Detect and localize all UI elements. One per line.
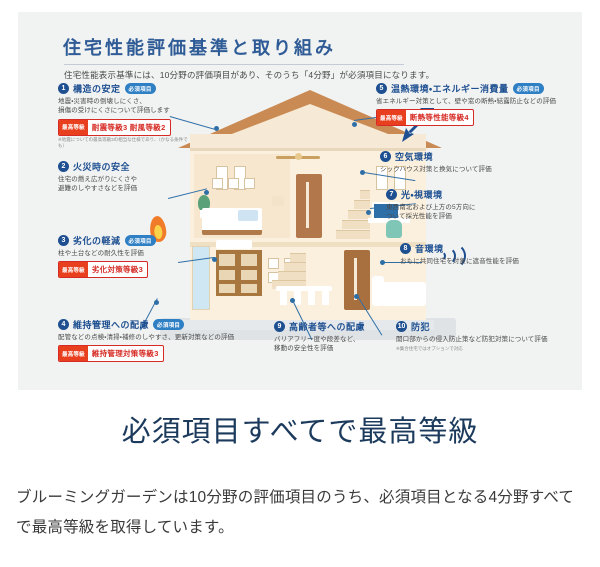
- callout-description: 住宅の燃え広がりにくさや 避難のしやすさなどを評価: [58, 175, 186, 194]
- stool-icon: [322, 291, 329, 305]
- callout-title: 劣化の軽減: [73, 234, 121, 247]
- grade-value: 劣化対策等級3: [88, 262, 147, 277]
- required-badge: 必須項目: [125, 83, 156, 94]
- living-window-icon: [192, 246, 210, 310]
- stool-icon: [294, 291, 301, 305]
- callout-item-1[interactable]: 1 構造の安定 必須項目 地震・災害時の倒壊しにくさ、 損傷の受けにくさについて…: [58, 82, 190, 149]
- callout-item-3[interactable]: 3 劣化の軽減 必須項目 柱や土台などの耐久性を評価 最高等級 劣化対策等級3: [58, 234, 190, 278]
- callout-description: 東西南北および上方の5方向に ついて採光性能を評価: [386, 203, 556, 222]
- callout-number: 9: [274, 321, 285, 332]
- callout-number: 2: [58, 161, 69, 172]
- leader-dot: [154, 300, 159, 305]
- grade-label: 最高等級: [377, 110, 406, 125]
- ceiling-fan-icon: [276, 152, 320, 161]
- callout-title: 音環境: [415, 242, 444, 255]
- grade-value: 耐震等級3 耐風等級2: [88, 120, 170, 135]
- grade-label: 最高等級: [59, 120, 88, 135]
- callout-number: 6: [380, 151, 391, 162]
- callout-number: 10: [396, 321, 407, 332]
- grade-label: 最高等級: [59, 346, 88, 361]
- callout-title: 防犯: [411, 320, 430, 333]
- callout-description: 配管などの点検・清掃・補修のしやすさ、更新対策などの評価: [58, 333, 248, 342]
- required-badge: 必須項目: [153, 319, 184, 330]
- lower-stairs-icon: [272, 246, 306, 288]
- required-badge: 必須項目: [125, 235, 156, 246]
- stool-icon: [308, 291, 315, 305]
- stool-icon: [280, 291, 287, 305]
- leader-dot: [352, 122, 357, 127]
- callout-number: 3: [58, 235, 69, 246]
- grade-label: 最高等級: [59, 262, 88, 277]
- sofa-icon: [382, 282, 426, 306]
- callout-item-2[interactable]: 2 火災時の安全 住宅の燃え広がりにくさや 避難のしやすさなどを評価: [58, 160, 186, 194]
- callout-title: 温熱環境・エネルギー消費量: [391, 82, 509, 95]
- callout-note: ※地震についての最高等級3の相当な仕様であり、（かなる条件でも）: [58, 137, 190, 149]
- wall-art-icon: [228, 178, 239, 189]
- callout-number: 4: [58, 319, 69, 330]
- grade-badge: 最高等級 断熱等性能等級4: [376, 109, 474, 126]
- grade-badge: 最高等級 維持管理対策等級3: [58, 345, 164, 362]
- title-divider: [64, 64, 404, 65]
- leader-dot: [212, 257, 217, 262]
- callout-note: ※集合住宅ではオプションで対応: [396, 346, 572, 352]
- upper-stairs-icon: [336, 182, 370, 238]
- callout-item-10[interactable]: 10 防犯 開口部からの侵入防止策など防犯対策について評価 ※集合住宅ではオプシ…: [396, 320, 572, 352]
- callout-item-8[interactable]: 8 音環境 おもに共同住宅を対象に遮音性能を評価: [400, 242, 572, 266]
- leader-dot: [354, 294, 359, 299]
- grade-badge: 最高等級 耐震等級3 耐風等級2: [58, 119, 171, 136]
- grade-value: 維持管理対策等級3: [88, 346, 163, 361]
- callout-description: 柱や土台などの耐久性を評価: [58, 249, 190, 258]
- callout-title: 空気環境: [395, 150, 433, 163]
- infographic-title: 住宅性能評価基準と取り組み: [63, 34, 336, 60]
- entry-door-icon: [344, 250, 370, 310]
- callout-number: 8: [400, 243, 411, 254]
- callout-description: バリアフリー度や段差など、 移動の安全性を評価: [274, 335, 394, 354]
- leader-dot: [360, 170, 365, 175]
- leader-dot: [366, 210, 371, 215]
- callout-number: 5: [376, 83, 387, 94]
- callout-description: 地震・災害時の倒壊しにくさ、 損傷の受けにくさについて評価します: [58, 97, 190, 116]
- callout-number: 1: [58, 83, 69, 94]
- leader-dot: [290, 298, 295, 303]
- callout-title: 火災時の安全: [73, 160, 130, 173]
- callout-title: 構造の安定: [73, 82, 121, 95]
- promo-headline: 必須項目すべてで最高等級: [0, 408, 600, 450]
- chair-icon: [386, 220, 402, 238]
- callout-description: 省エネルギー対策として、壁や窓の断熱・結露防止などの評価: [376, 97, 572, 106]
- leader-dot: [204, 190, 209, 195]
- callout-description: 開口部からの侵入防止策など防犯対策について評価: [396, 335, 572, 344]
- callout-description: おもに共同住宅を対象に遮音性能を評価: [400, 257, 572, 266]
- infographic-subtitle: 住宅性能表示基準には、10分野の評価項目があり、そのうち「4分野」が必須項目にな…: [64, 69, 434, 81]
- infographic-card: 住宅性能評価基準と取り組み 住宅性能表示基準には、10分野の評価項目があり、その…: [18, 12, 582, 390]
- promo-body-text: ブルーミングガーデンは10分野の評価項目のうち、必須項目となる4分野すべてで最高…: [16, 483, 584, 543]
- pillow-icon: [238, 210, 258, 221]
- grade-badge: 最高等級 劣化対策等級3: [58, 261, 148, 278]
- floor-lamp-icon: [272, 196, 284, 206]
- callout-item-5[interactable]: 5 温熱環境・エネルギー消費量 必須項目 省エネルギー対策として、壁や窓の断熱・…: [376, 82, 572, 126]
- callout-title: 維持管理への配慮: [73, 318, 149, 331]
- leader-dot: [214, 126, 219, 131]
- callout-item-4[interactable]: 4 維持管理への配慮 必須項目 配管などの点検・清掃・補修のしやすさ、更新対策な…: [58, 318, 248, 362]
- callout-title: 光・視環境: [401, 188, 443, 201]
- callout-item-7[interactable]: 7 光・視環境 東西南北および上方の5方向に ついて採光性能を評価: [386, 188, 556, 222]
- callout-number: 7: [386, 189, 397, 200]
- callout-item-9[interactable]: 9 高齢者等への配慮 バリアフリー度や段差など、 移動の安全性を評価: [274, 320, 394, 354]
- upper-door-icon: [296, 174, 322, 238]
- callout-description: シックハウス対策と換気について評価: [380, 165, 566, 174]
- shelving-unit-icon: [216, 250, 262, 296]
- wall-art-icon: [212, 178, 223, 189]
- required-badge: 必須項目: [513, 83, 544, 94]
- grade-value: 断熱等性能等級4: [406, 110, 473, 125]
- callout-title: 高齢者等への配慮: [289, 320, 365, 333]
- leader-dot: [380, 260, 385, 265]
- callout-item-6[interactable]: 6 空気環境 シックハウス対策と換気について評価: [380, 150, 566, 174]
- air-conditioner-icon: [216, 240, 252, 249]
- wall-art-icon: [244, 178, 255, 189]
